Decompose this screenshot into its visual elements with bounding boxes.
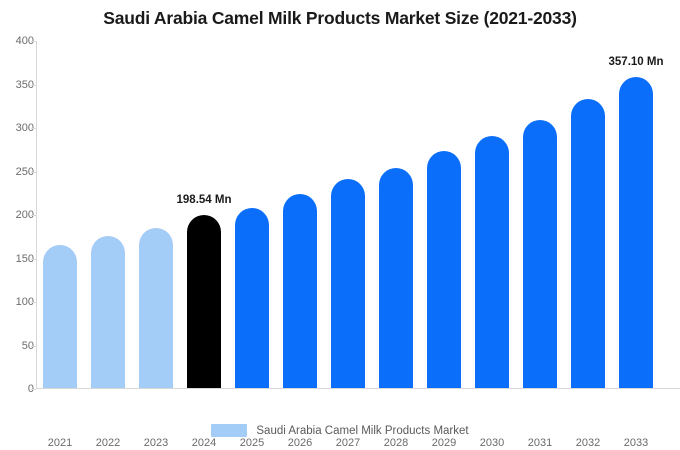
bar-2026[interactable] — [283, 194, 317, 388]
bar-2033[interactable] — [619, 77, 653, 388]
bar-2025[interactable] — [235, 208, 269, 388]
x-axis-tick-label: 2031 — [528, 437, 552, 449]
y-axis-tick-label: 100 — [0, 296, 34, 308]
bar-2024[interactable] — [187, 215, 221, 388]
y-axis-tick-label: 150 — [0, 253, 34, 265]
x-axis-tick-label: 2026 — [288, 437, 312, 449]
y-axis-tick-label: 300 — [0, 122, 34, 134]
x-axis-tick-label: 2032 — [576, 437, 600, 449]
legend-swatch-icon — [211, 424, 247, 437]
bar-2028[interactable] — [379, 168, 413, 388]
y-axis-tick-label: 50 — [0, 340, 34, 352]
bar-2031[interactable] — [523, 120, 557, 388]
y-axis-tick-mark — [31, 215, 36, 216]
x-axis-line — [36, 388, 680, 389]
x-axis-tick-label: 2022 — [96, 437, 120, 449]
bar-2022[interactable] — [91, 236, 125, 388]
plot-area: 050100150200250300350400 198.54 Mn357.10… — [36, 41, 680, 389]
chart-container: Saudi Arabia Camel Milk Products Market … — [0, 0, 680, 450]
y-axis-tick-mark — [31, 389, 36, 390]
y-axis-tick-mark — [31, 172, 36, 173]
legend-item-label: Saudi Arabia Camel Milk Products Market — [256, 425, 468, 437]
x-axis-tick-label: 2030 — [480, 437, 504, 449]
bar-2030[interactable] — [475, 136, 509, 388]
x-axis-tick-label: 2021 — [48, 437, 72, 449]
y-axis-tick-mark — [31, 259, 36, 260]
y-axis-tick-mark — [31, 302, 36, 303]
bar-2029[interactable] — [427, 151, 461, 388]
y-axis-tick-label: 250 — [0, 166, 34, 178]
x-axis-tick-label: 2025 — [240, 437, 264, 449]
chart-legend: Saudi Arabia Camel Milk Products Market — [0, 424, 680, 437]
y-axis-tick-label: 350 — [0, 79, 34, 91]
chart-title: Saudi Arabia Camel Milk Products Market … — [0, 8, 680, 29]
bar-2027[interactable] — [331, 179, 365, 388]
y-axis-tick-mark — [31, 128, 36, 129]
x-axis-tick-label: 2024 — [192, 437, 216, 449]
y-axis-tick-label: 200 — [0, 209, 34, 221]
y-axis-line — [36, 41, 37, 389]
y-axis-tick-mark — [31, 346, 36, 347]
x-axis-tick-label: 2023 — [144, 437, 168, 449]
x-axis-tick-label: 2027 — [336, 437, 360, 449]
bar-2023[interactable] — [139, 228, 173, 388]
x-axis-tick-label: 2033 — [624, 437, 648, 449]
y-axis-tick-label: 0 — [0, 383, 34, 395]
x-axis-tick-label: 2028 — [384, 437, 408, 449]
y-axis-tick-mark — [31, 85, 36, 86]
y-axis-tick-mark — [31, 41, 36, 42]
bar-2021[interactable] — [43, 245, 77, 388]
y-axis-tick-label: 400 — [0, 35, 34, 47]
bar-value-label-2033: 357.10 Mn — [609, 56, 664, 68]
bar-value-label-2024: 198.54 Mn — [177, 194, 232, 206]
bar-2032[interactable] — [571, 99, 605, 388]
x-axis-tick-label: 2029 — [432, 437, 456, 449]
